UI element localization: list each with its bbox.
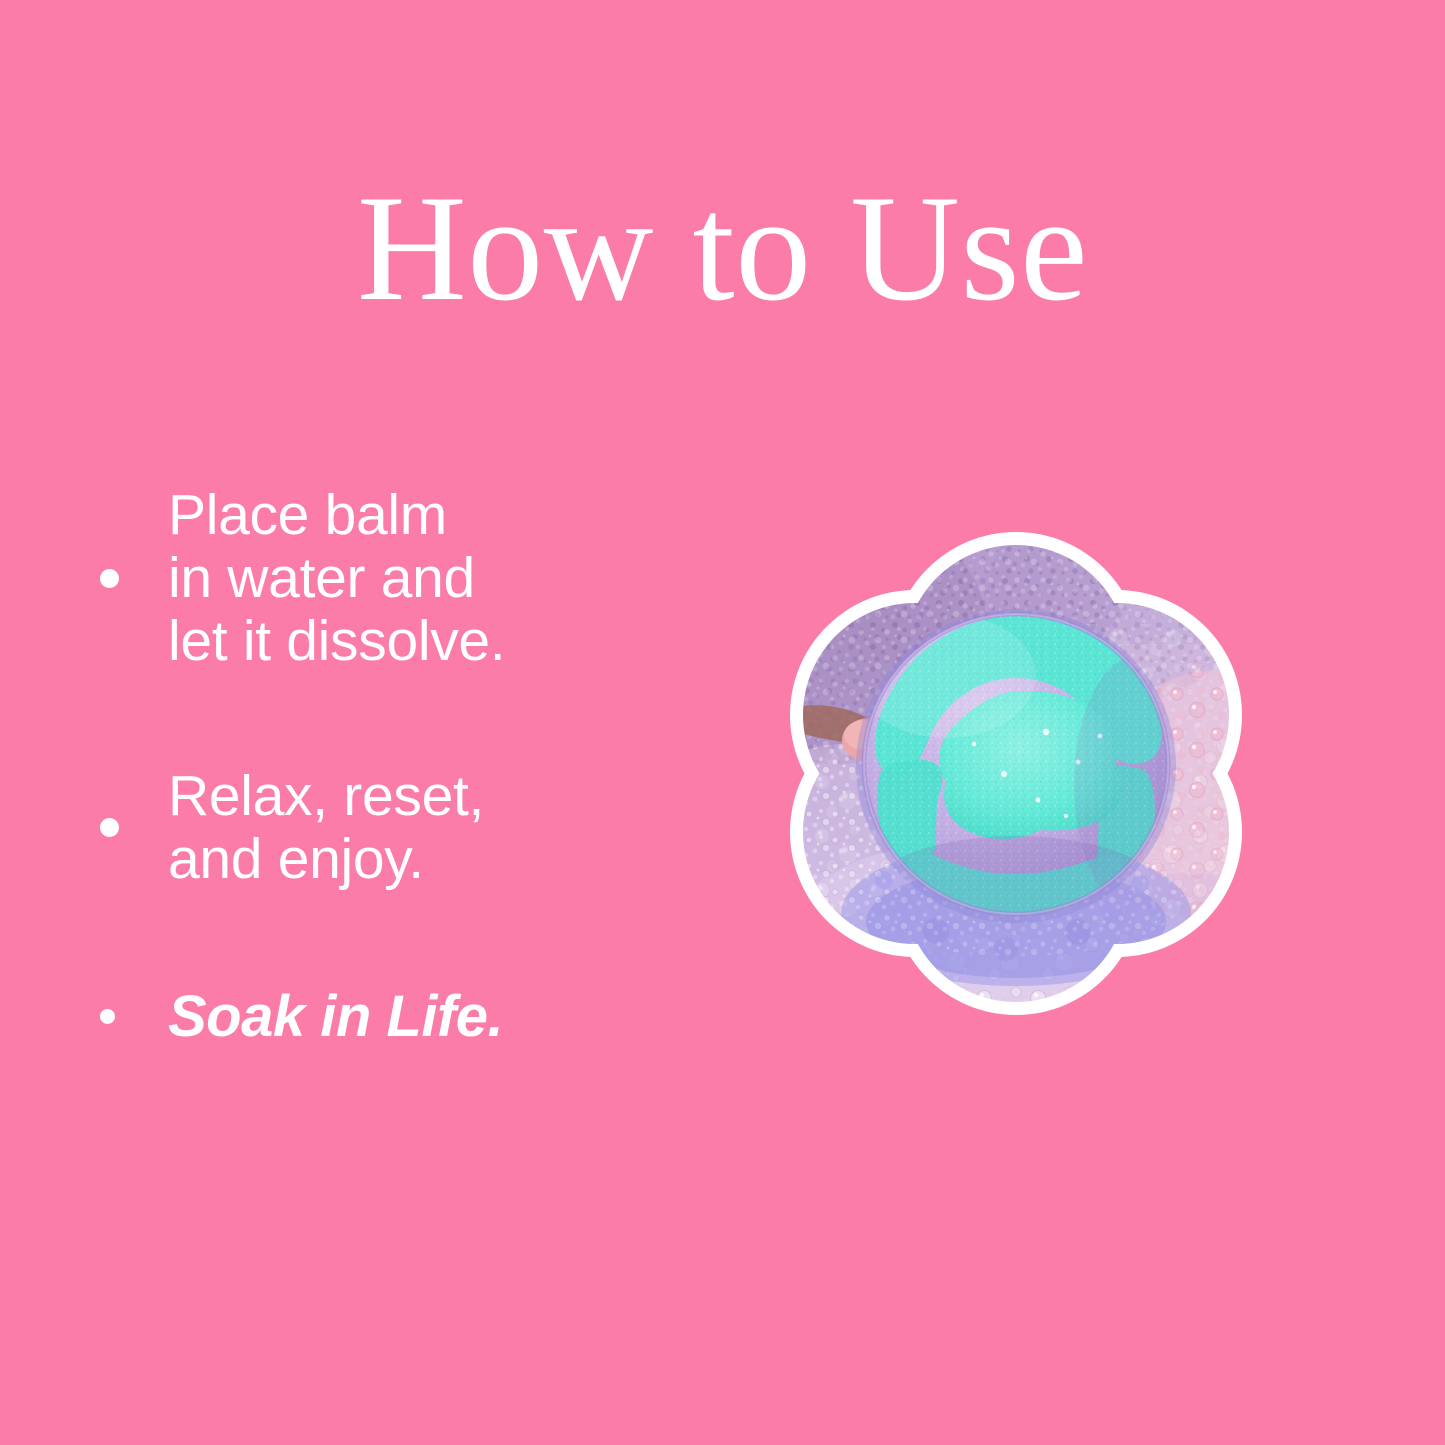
- poster-canvas: How to Use Place balm in water and let i…: [0, 0, 1445, 1445]
- list-item: Soak in Life.: [96, 985, 656, 1049]
- product-image: [648, 444, 1384, 1180]
- bullet-marker-icon: [96, 569, 168, 588]
- bullet-marker-icon: [96, 1009, 168, 1024]
- list-item: Place balm in water and let it dissolve.: [96, 484, 656, 673]
- list-item-label: Soak in Life.: [168, 985, 503, 1049]
- flower-frame-icon: [648, 444, 1384, 1180]
- list-item-label: Place balm in water and let it dissolve.: [168, 484, 505, 673]
- instructions-list: Place balm in water and let it dissolve.…: [96, 484, 656, 1049]
- bath-photo-content: [648, 444, 1384, 1180]
- list-item: Relax, reset, and enjoy.: [96, 765, 656, 891]
- page-title: How to Use: [0, 172, 1445, 324]
- bullet-marker-icon: [96, 818, 168, 837]
- list-item-label: Relax, reset, and enjoy.: [168, 765, 484, 891]
